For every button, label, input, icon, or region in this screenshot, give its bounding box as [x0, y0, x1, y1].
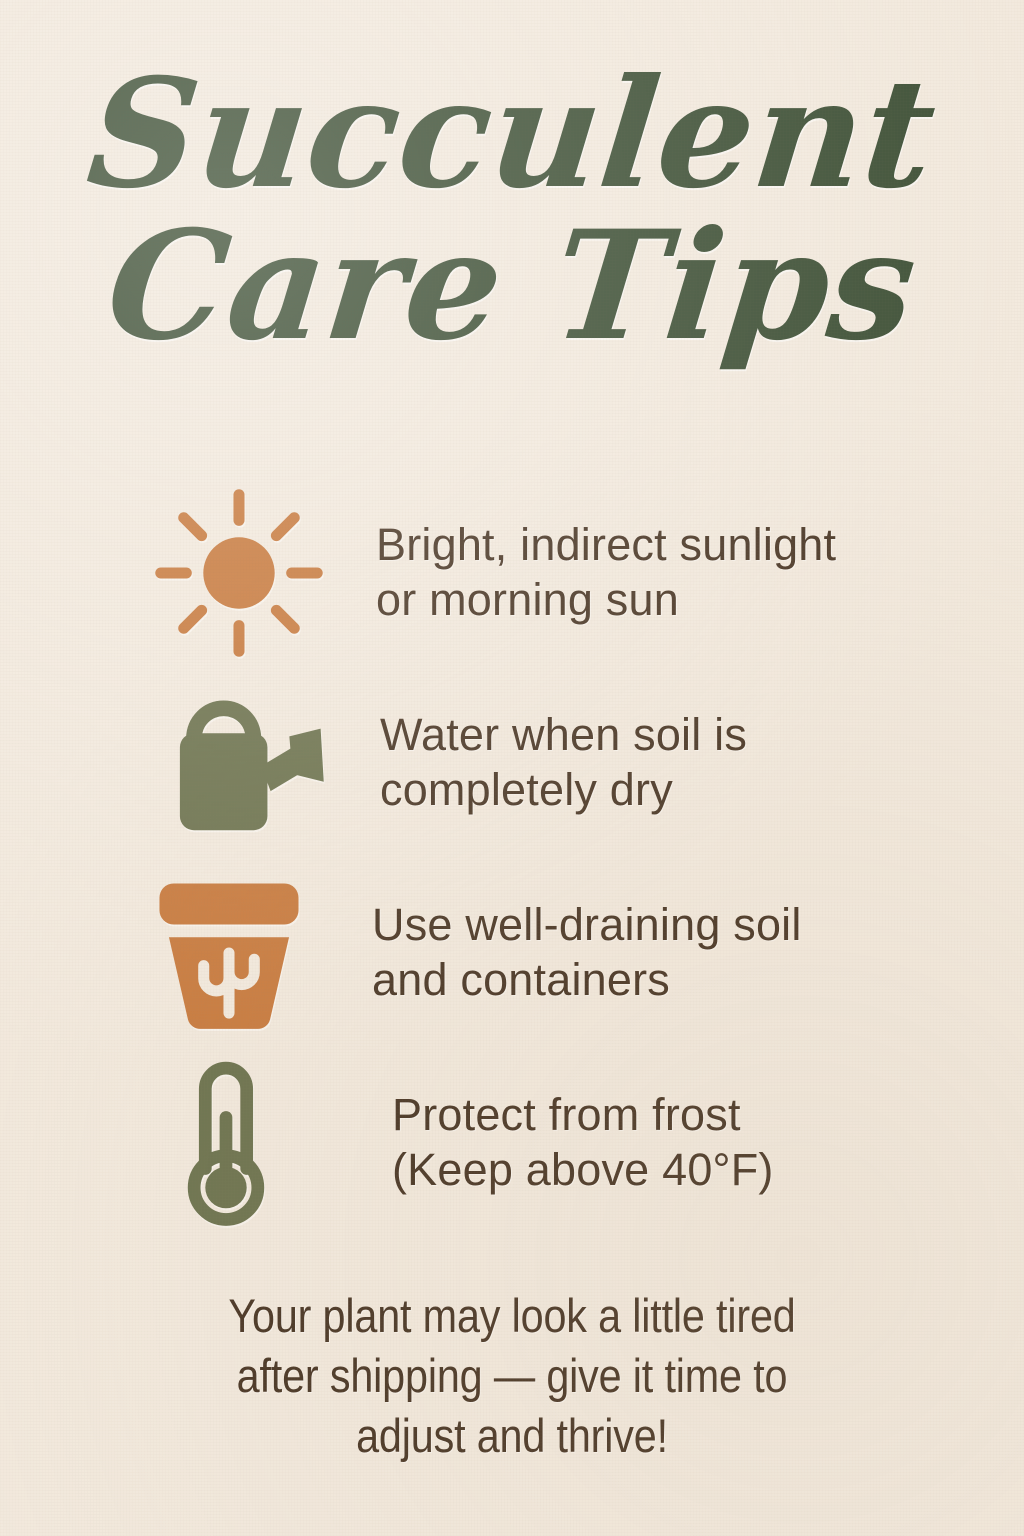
tip-text-soil: Use well-draining soil and containers — [372, 898, 802, 1008]
tip-line-2: and containers — [372, 953, 802, 1008]
thermometer-icon — [138, 1057, 392, 1229]
footer-note: Your plant may look a little tired after… — [61, 1286, 962, 1466]
tip-row-soil: Use well-draining soil and containers — [0, 858, 1024, 1048]
footer-line-1: Your plant may look a little tired — [61, 1286, 962, 1346]
footer-line-3: adjust and thrive! — [61, 1406, 962, 1466]
footer-line-2: after shipping — give it time to — [61, 1346, 962, 1406]
tip-line-2: or morning sun — [376, 573, 836, 628]
plant-pot-icon — [138, 873, 372, 1033]
succulent-care-poster: Succulent Care Tips — [0, 0, 1024, 1536]
watering-can-icon — [138, 683, 380, 843]
tip-line-2: (Keep above 40°F) — [392, 1143, 774, 1198]
tip-text-water: Water when soil is completely dry — [380, 708, 747, 818]
tip-row-temperature: Protect from frost (Keep above 40°F) — [0, 1048, 1024, 1238]
tip-line-1: Protect from frost — [392, 1089, 741, 1140]
tip-text-sunlight: Bright, indirect sunlight or morning sun — [376, 518, 836, 628]
tip-line-1: Use well-draining soil — [372, 899, 802, 950]
title-line-1: Succulent — [0, 62, 1024, 206]
tip-line-2: completely dry — [380, 763, 747, 818]
page-title: Succulent Care Tips — [0, 62, 1024, 358]
title-line-2: Care Tips — [0, 214, 1024, 358]
tip-text-temperature: Protect from frost (Keep above 40°F) — [392, 1088, 774, 1198]
tip-row-water: Water when soil is completely dry — [0, 668, 1024, 858]
tip-line-1: Bright, indirect sunlight — [376, 519, 836, 570]
care-tips-list: Bright, indirect sunlight or morning sun — [0, 478, 1024, 1238]
tip-line-1: Water when soil is — [380, 709, 747, 760]
tip-row-sunlight: Bright, indirect sunlight or morning sun — [0, 478, 1024, 668]
sun-icon — [138, 488, 376, 658]
